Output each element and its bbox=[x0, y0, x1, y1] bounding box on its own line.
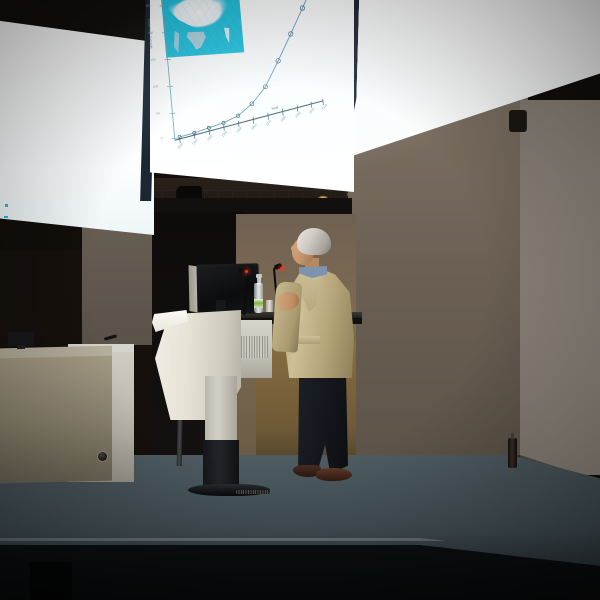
microphone-led-indicator bbox=[245, 270, 248, 273]
speaker-hair bbox=[297, 228, 331, 255]
microphone-led-indicator bbox=[280, 267, 283, 270]
stage-vent-opening bbox=[30, 562, 72, 600]
lectern-column bbox=[205, 376, 237, 442]
front-desk-panel bbox=[0, 351, 112, 484]
screen-left-mark bbox=[5, 204, 8, 207]
screen-left-mark bbox=[4, 216, 8, 218]
lecture-hall-photo: Millions of tonnes Year 0 50 100 150 200… bbox=[0, 0, 600, 600]
desk-monitor[interactable] bbox=[8, 332, 34, 347]
water-bottle[interactable] bbox=[254, 283, 263, 313]
water-bottle-label bbox=[254, 299, 263, 308]
speaker-jacket-pocket bbox=[296, 336, 320, 344]
speaker-shoe bbox=[316, 468, 352, 481]
screen-center bbox=[150, 0, 354, 192]
presenter-monitor[interactable] bbox=[196, 263, 259, 314]
floor-thermos[interactable] bbox=[508, 438, 517, 468]
water-bottle-neck bbox=[257, 277, 261, 285]
desk-cable-port[interactable] bbox=[98, 452, 107, 461]
lectern-base-cable-tray bbox=[236, 490, 270, 494]
screen-left bbox=[0, 20, 154, 235]
right-wall bbox=[520, 100, 600, 475]
drinking-glass[interactable] bbox=[266, 300, 273, 312]
water-bottle-cap bbox=[256, 274, 262, 278]
wall-loudspeaker-icon bbox=[509, 110, 527, 132]
back-wall bbox=[348, 96, 528, 468]
lectern-base-box bbox=[203, 440, 239, 486]
